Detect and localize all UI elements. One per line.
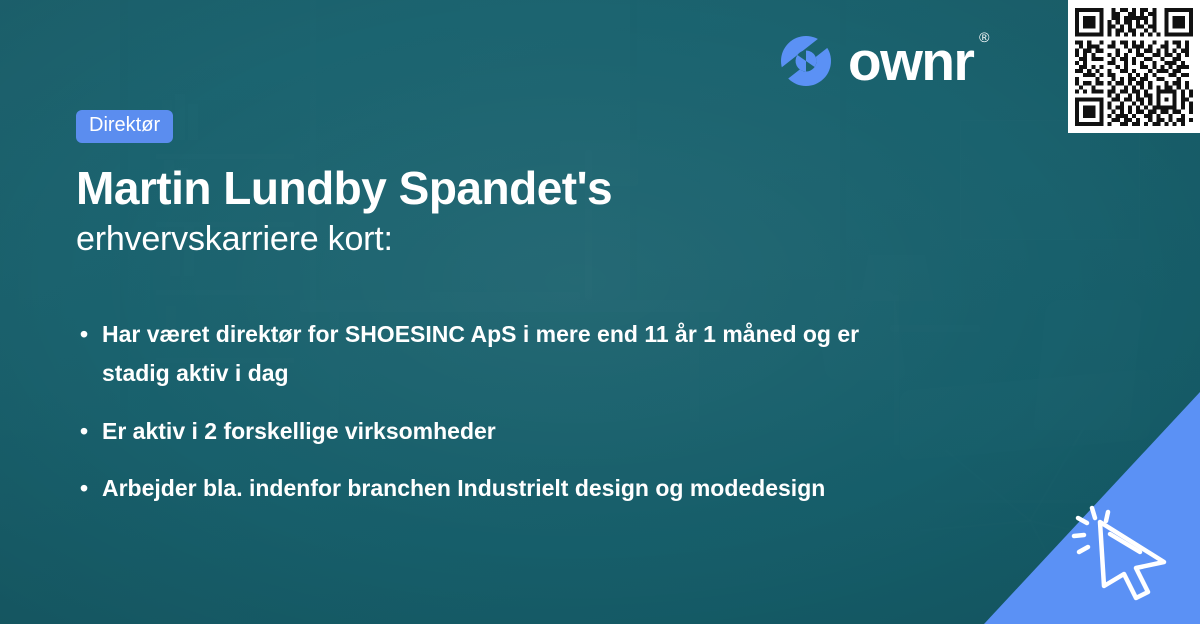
list-item: Er aktiv i 2 forskellige virksomheder xyxy=(76,412,916,451)
ownr-wordmark: ownr® xyxy=(848,34,973,89)
list-item: Har været direktør for SHOESINC ApS i me… xyxy=(76,315,916,393)
role-badge: Direktør xyxy=(76,110,173,143)
ownr-wordmark-text: ownr xyxy=(848,30,973,92)
ownr-circle-swirl-logo xyxy=(778,33,834,89)
ownr-logo[interactable]: ownr® xyxy=(778,33,973,89)
qr-code-icon[interactable] xyxy=(1075,8,1193,126)
list-item: Arbejder bla. indenfor branchen Industri… xyxy=(76,469,916,508)
page-subtitle: erhvervskarriere kort: xyxy=(76,219,976,260)
career-facts-list: Har været direktør for SHOESINC ApS i me… xyxy=(76,315,976,507)
qr-code-panel[interactable] xyxy=(1068,0,1200,133)
mouse-cursor-click-icon xyxy=(1066,492,1186,602)
page-title: Martin Lundby Spandet's xyxy=(76,163,976,215)
card-content: Direktør Martin Lundby Spandet's erhverv… xyxy=(76,110,976,526)
registered-mark: ® xyxy=(979,30,989,44)
profile-card: ownr® Direktør Martin Lundby Spandet's e… xyxy=(0,0,1200,624)
